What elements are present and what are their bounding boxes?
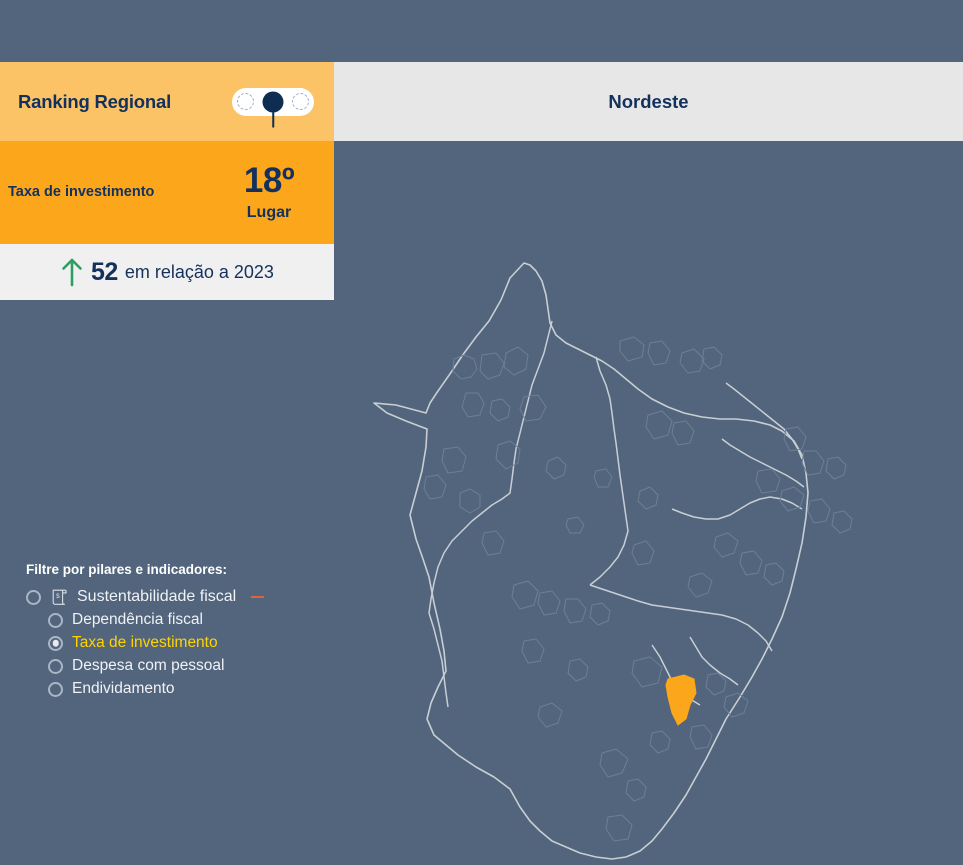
map-region-outline [374, 263, 808, 859]
filter-indicator-taxa-de-investimento[interactable]: Taxa de investimento [48, 634, 326, 652]
svg-text:$: $ [56, 593, 60, 600]
metric-label: Taxa de investimento [8, 184, 226, 201]
header-row: Ranking Regional Nordeste [0, 62, 963, 141]
metric-rank-unit: Lugar [226, 204, 312, 222]
region-name: Nordeste [608, 91, 688, 113]
indicator-radio[interactable] [48, 682, 63, 697]
indicator-radio[interactable] [48, 659, 63, 674]
metric-rank-value: 18º [226, 163, 312, 198]
delta-text: em relação a 2023 [125, 262, 274, 283]
pillar-label: Sustentabilidade fiscal [77, 588, 236, 606]
toggle-knob[interactable] [263, 91, 284, 112]
indicator-label: Endividamento [72, 680, 175, 698]
filter-indicator-dependencia-fiscal[interactable]: Dependência fiscal [48, 611, 326, 629]
indicator-radio[interactable] [48, 636, 63, 651]
pillar-radio[interactable] [26, 590, 41, 605]
filter-indicator-endividamento[interactable]: Endividamento [48, 680, 326, 698]
collapse-dash-icon[interactable] [251, 596, 264, 599]
toggle-knob-stem [272, 112, 275, 127]
indicator-label: Despesa com pessoal [72, 657, 225, 675]
indicator-radio[interactable] [48, 613, 63, 628]
map-highlighted-municipality [666, 675, 696, 725]
filter-heading: Filtre por pilares e indicadores: [26, 562, 326, 577]
map-state-divider-al-se [690, 637, 738, 685]
ranking-card-header: Ranking Regional [0, 62, 334, 141]
metric-rank: 18º Lugar [226, 163, 312, 222]
map-state-divider-pe-ba [590, 585, 772, 651]
fiscal-scroll-icon: $ [50, 588, 68, 606]
ranking-card-title: Ranking Regional [18, 91, 171, 113]
delta-value: 52 [91, 258, 118, 287]
toggle-stop-right[interactable] [292, 93, 309, 110]
map-state-divider-pb-pe [672, 497, 802, 519]
delta-panel: 52 em relação a 2023 [0, 244, 334, 300]
ranking-card-body: Taxa de investimento 18º Lugar 52 em rel… [0, 141, 334, 300]
map-area[interactable]: 18º [334, 141, 963, 865]
map-municipality-lines [424, 337, 852, 841]
indicator-label: Taxa de investimento [72, 634, 218, 652]
toggle-stop-left[interactable] [237, 93, 254, 110]
filter-pillar-sustentabilidade-fiscal[interactable]: $ Sustentabilidade fiscal [26, 588, 326, 606]
nordeste-map[interactable] [334, 141, 963, 865]
filter-panel: Filtre por pilares e indicadores: $ Sust… [26, 562, 326, 703]
scope-toggle[interactable] [232, 88, 314, 116]
metric-panel: Taxa de investimento 18º Lugar [0, 141, 334, 244]
indicator-label: Dependência fiscal [72, 611, 203, 629]
filter-indicator-despesa-com-pessoal[interactable]: Despesa com pessoal [48, 657, 326, 675]
top-background-strip [0, 0, 963, 62]
map-state-divider-ce-rn [726, 383, 802, 459]
region-header: Nordeste [334, 62, 963, 141]
map-state-divider-rn-pb [722, 439, 804, 487]
arrow-up-icon [60, 257, 84, 287]
map-state-divider-ma-pi [429, 321, 552, 613]
